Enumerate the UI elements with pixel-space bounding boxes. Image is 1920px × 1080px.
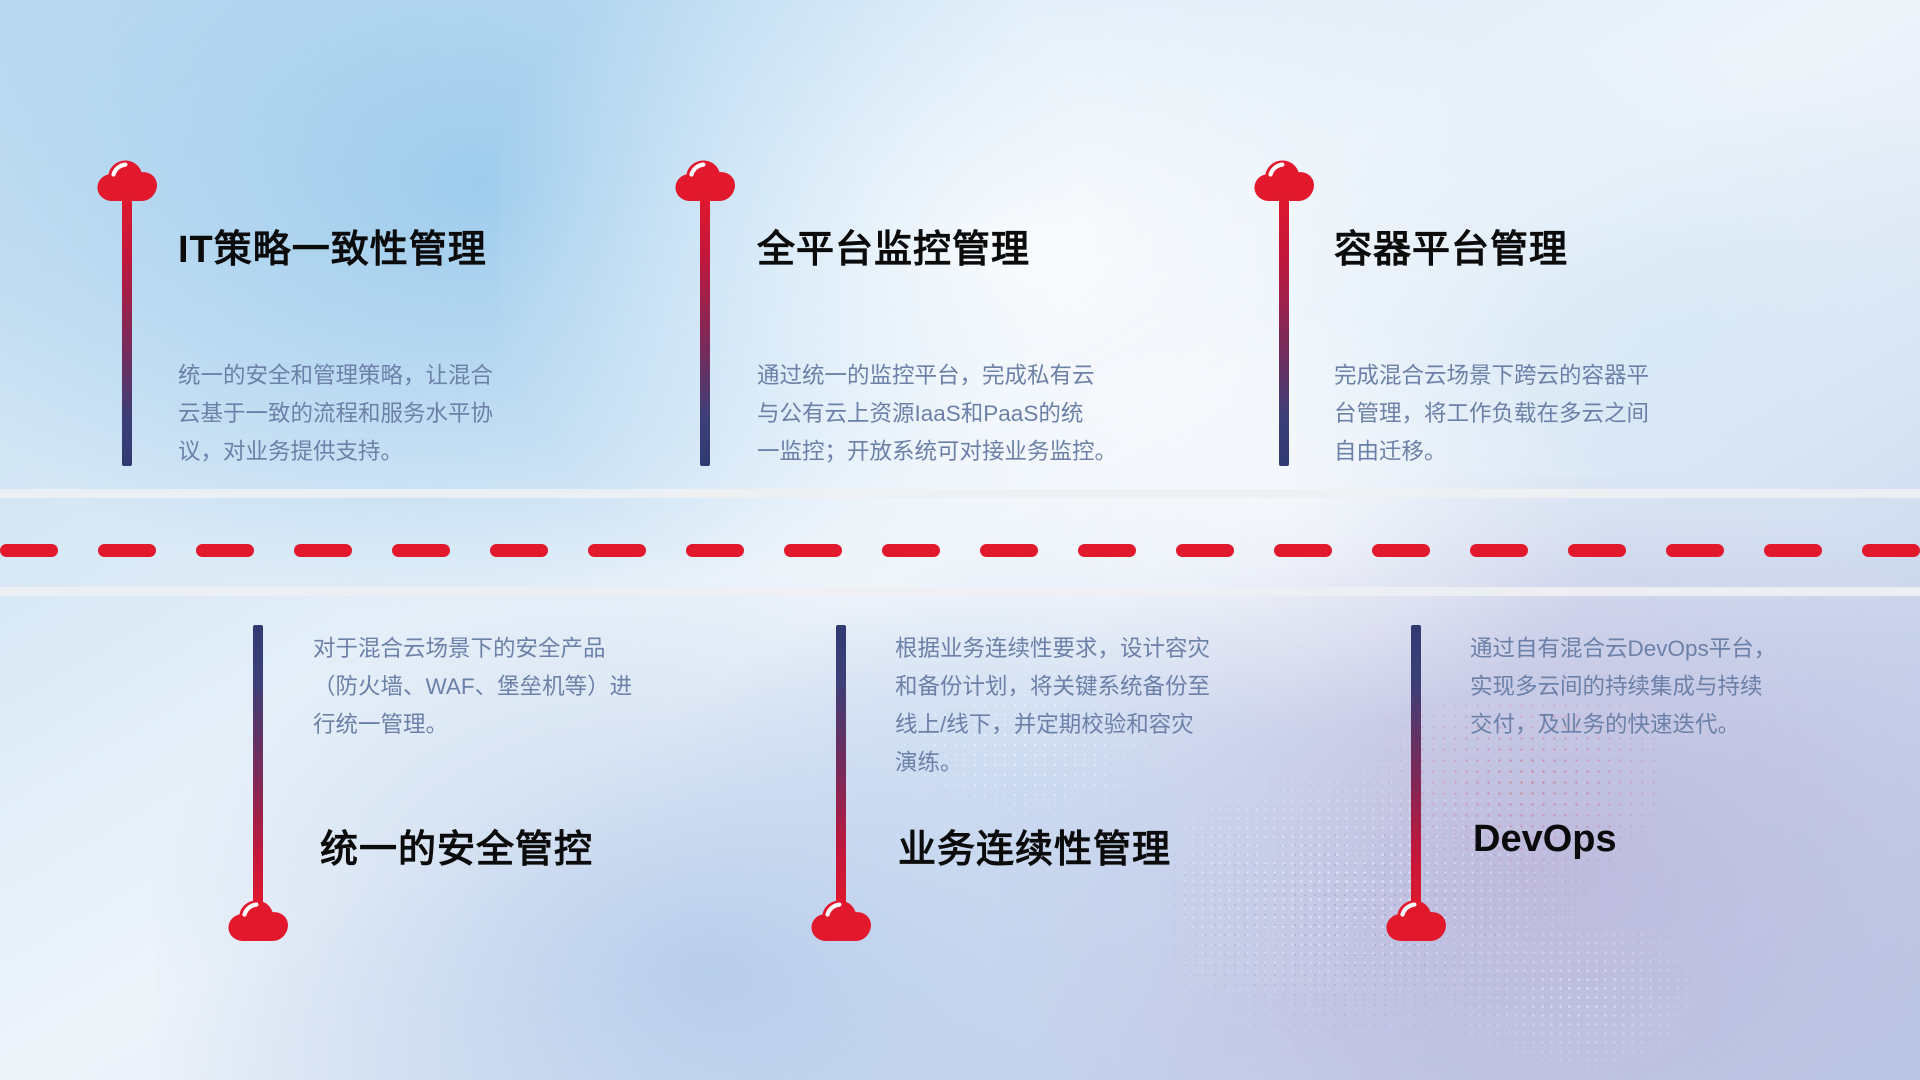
divider-dash <box>686 544 744 557</box>
divider-dash <box>1274 544 1332 557</box>
feature-body: 通过统一的监控平台，完成私有云 与公有云上资源IaaS和PaaS的统 一监控；开… <box>757 357 1207 471</box>
divider-dash <box>490 544 548 557</box>
feature-heading: DevOps <box>1473 818 1617 861</box>
feature-body: 通过自有混合云DevOps平台， 实现多云间的持续集成与持续 交付，及业务的快速… <box>1470 630 1900 744</box>
divider-dash <box>1764 544 1822 557</box>
feature-heading: 容器平台管理 <box>1334 218 1568 273</box>
divider-dash <box>196 544 254 557</box>
feature-heading: 业务连续性管理 <box>898 818 1171 873</box>
feature-body: 完成混合云场景下跨云的容器平 台管理，将工作负载在多云之间 自由迁移。 <box>1334 357 1764 471</box>
divider-dash <box>1470 544 1528 557</box>
divider-dash <box>1372 544 1430 557</box>
connector-stem <box>1411 625 1421 910</box>
divider-dash <box>882 544 940 557</box>
cloud-icon <box>227 898 289 942</box>
connector-stem <box>836 625 846 910</box>
feature-heading: 全平台监控管理 <box>757 218 1030 273</box>
divider-dash <box>294 544 352 557</box>
divider-dash <box>588 544 646 557</box>
connector-stem <box>1279 196 1289 466</box>
divider-dash <box>1176 544 1234 557</box>
divider-dashed-line <box>0 543 1920 557</box>
divider-bar-top <box>0 489 1920 498</box>
feature-body: 对于混合云场景下的安全产品 （防火墙、WAF、堡垒机等）进 行统一管理。 <box>313 630 743 744</box>
cloud-icon <box>1385 898 1447 942</box>
connector-stem <box>700 196 710 466</box>
divider-dash <box>1568 544 1626 557</box>
feature-heading: IT策略一致性管理 <box>178 218 487 273</box>
divider-dash <box>392 544 450 557</box>
infographic-canvas: IT策略一致性管理 统一的安全和管理策略，让混合 云基于一致的流程和服务水平协 … <box>0 0 1920 1080</box>
divider-dash <box>1078 544 1136 557</box>
divider-dash <box>0 544 58 557</box>
connector-stem <box>253 625 263 910</box>
cloud-icon <box>810 898 872 942</box>
divider-dash <box>784 544 842 557</box>
divider-bar-bottom <box>0 587 1920 596</box>
divider-dash <box>98 544 156 557</box>
divider-dash <box>1666 544 1724 557</box>
divider-dash <box>1862 544 1920 557</box>
feature-body: 根据业务连续性要求，设计容灾 和备份计划，将关键系统备份至 线上/线下，并定期校… <box>895 630 1325 782</box>
divider-dash <box>980 544 1038 557</box>
feature-heading: 统一的安全管控 <box>320 818 593 873</box>
connector-stem <box>122 196 132 466</box>
feature-body: 统一的安全和管理策略，让混合 云基于一致的流程和服务水平协 议，对业务提供支持。 <box>178 357 608 471</box>
